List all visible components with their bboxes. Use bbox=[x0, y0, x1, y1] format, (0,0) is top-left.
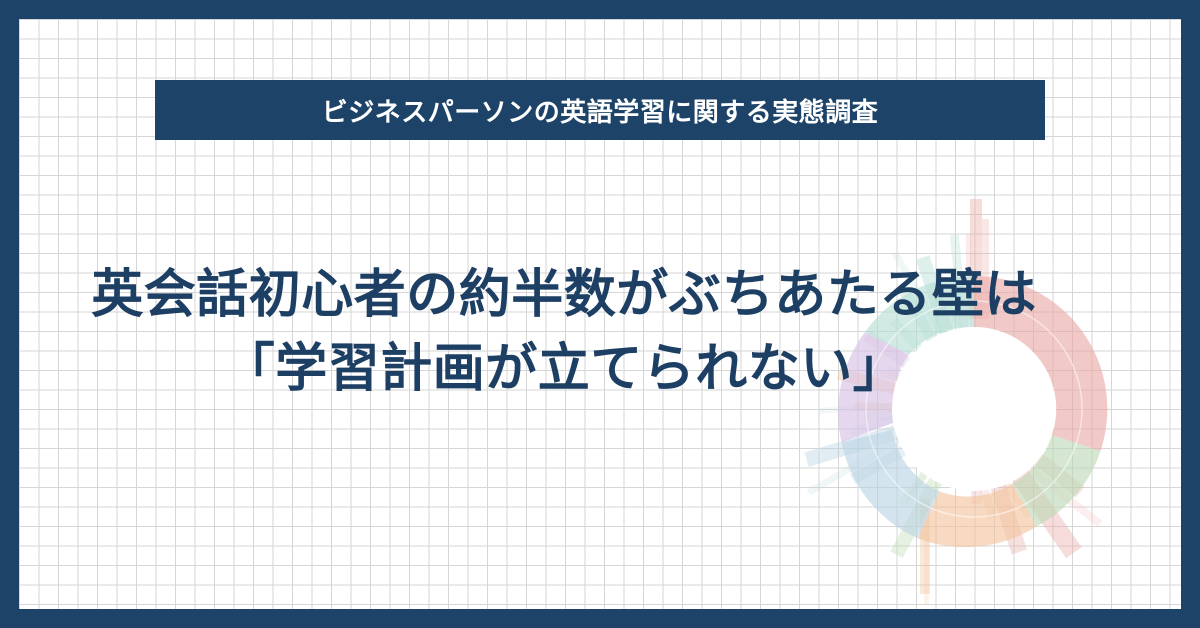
ray-group-blue bbox=[801, 392, 977, 507]
header-banner-label: ビジネスパーソンの英語学習に関する実態調査 bbox=[322, 92, 879, 129]
ray-group-green bbox=[882, 401, 981, 558]
donut-segment-3 bbox=[918, 484, 1037, 548]
page-title-line-1: 英会話初心者の約半数がぶちあたる壁は bbox=[19, 259, 1109, 333]
grid-paper-background: ビジネスパーソンの英語学習に関する実態調査 英会話初心者の約半数がぶちあたる壁は… bbox=[19, 19, 1181, 609]
page-title-line-2: 「学習計画が立てられない」 bbox=[19, 333, 1109, 407]
page-title: 英会話初心者の約半数がぶちあたる壁は 「学習計画が立てられない」 bbox=[19, 259, 1109, 407]
donut-segment-2 bbox=[1013, 435, 1101, 527]
header-banner: ビジネスパーソンの英語学習に関する実態調査 bbox=[155, 80, 1045, 140]
donut-segment-4 bbox=[842, 430, 940, 539]
poster-canvas: ビジネスパーソンの英語学習に関する実態調査 英会話初心者の約半数がぶちあたる壁は… bbox=[0, 0, 1200, 628]
